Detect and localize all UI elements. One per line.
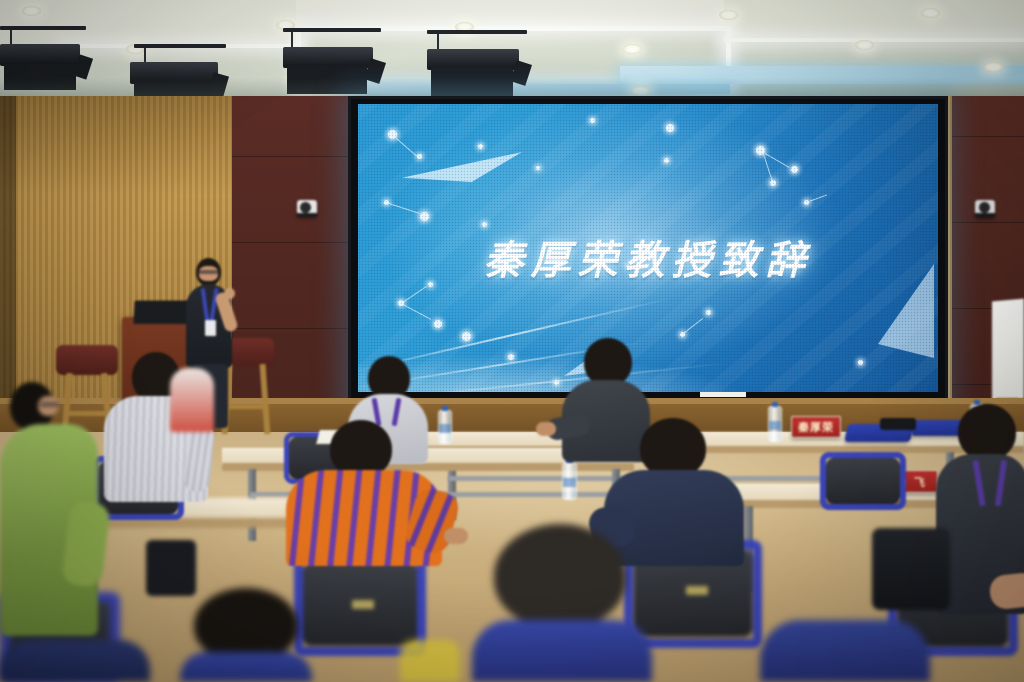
person-head <box>640 418 706 478</box>
audience-foreground-head-left <box>180 588 312 682</box>
person-shoulders <box>180 652 312 682</box>
left-wall-edge-shadow <box>0 96 16 426</box>
person-head <box>194 588 298 662</box>
audience-man-orange-stripes <box>286 420 442 560</box>
person-hand <box>444 528 468 544</box>
ptz-camera-icon <box>297 200 317 216</box>
audience-partial-red <box>170 368 214 432</box>
downlight <box>623 44 642 54</box>
audience-foreground-right <box>760 620 930 682</box>
person-hand <box>536 422 556 436</box>
speaker-badge <box>205 320 216 336</box>
person-head <box>584 338 632 386</box>
ceiling-panel-right <box>724 0 1024 40</box>
person-head <box>958 404 1016 460</box>
backpack[interactable] <box>872 528 950 610</box>
downlight <box>984 62 1003 72</box>
water-bottle[interactable] <box>562 462 577 500</box>
speaker-glasses <box>198 270 219 274</box>
chair[interactable] <box>294 554 426 656</box>
downlight <box>921 8 940 18</box>
chair[interactable] <box>820 452 906 510</box>
audience-foreground-left <box>0 640 150 682</box>
ptz-camera-icon <box>975 200 995 217</box>
speaker-hand <box>224 288 235 299</box>
person-shoulders <box>472 620 652 682</box>
audience-foreground-head-center <box>472 524 652 682</box>
person-glasses <box>40 402 58 407</box>
audience-man-right-edge <box>936 404 1024 654</box>
audience-woman-green <box>0 382 106 682</box>
black-case[interactable] <box>880 418 916 430</box>
flipchart-board <box>992 299 1024 402</box>
water-bottle[interactable] <box>768 406 782 442</box>
bag-under-table[interactable] <box>146 540 196 596</box>
conference-hall-photo: 秦厚荣教授致辞 <box>0 0 1024 682</box>
person-head <box>494 524 626 628</box>
light-cove-far-right <box>724 38 1024 42</box>
yellow-bag-strap <box>400 640 460 682</box>
ceiling-panel-center <box>296 0 726 28</box>
downlight <box>855 40 874 50</box>
downlight <box>22 6 41 16</box>
name-placard-qin: 秦厚荣 <box>791 416 841 438</box>
downlight <box>719 10 738 20</box>
